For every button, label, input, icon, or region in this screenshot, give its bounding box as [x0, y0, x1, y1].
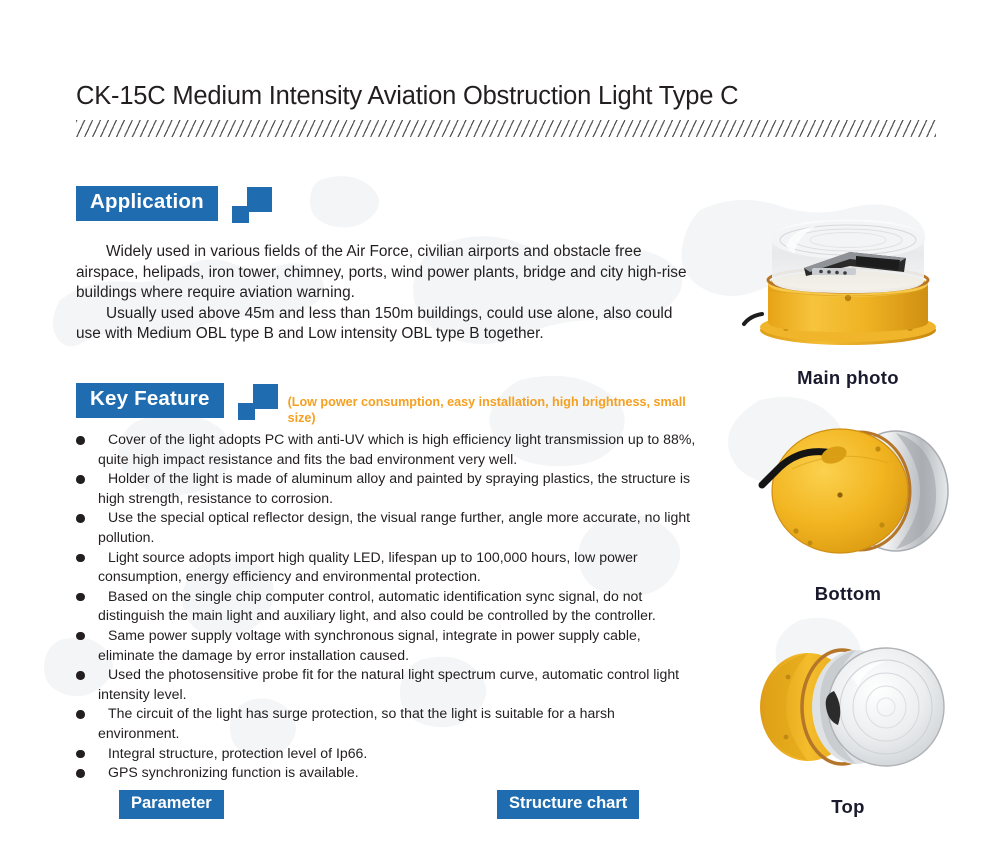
list-item: Integral structure, protection level of … [76, 744, 698, 764]
photo-item-top: Top [700, 605, 996, 818]
photo-item-bottom: Bottom [700, 389, 996, 605]
list-item: Use the special optical reflector design… [76, 508, 698, 547]
list-item: Based on the single chip computer contro… [76, 587, 698, 626]
parameter-badge-label: Parameter [119, 790, 224, 819]
list-item: Holder of the light is made of aluminum … [76, 469, 698, 508]
datasheet-page: CK-15C Medium Intensity Aviation Obstruc… [0, 0, 996, 856]
list-item: The circuit of the light has surge prote… [76, 704, 698, 743]
obstruction-light-top-view-icon [700, 633, 996, 783]
obstruction-light-bottom-view-icon [700, 413, 996, 568]
application-badge-label: Application [76, 186, 218, 221]
list-item: Light source adopts import high quality … [76, 548, 698, 587]
application-body: Widely used in various fields of the Air… [76, 242, 698, 345]
parameter-section-badge[interactable]: Parameter [119, 790, 224, 819]
list-item: Used the photosensitive probe fit for th… [76, 665, 698, 704]
list-item: Cover of the light adopts PC with anti-U… [76, 430, 698, 469]
photo-caption-bottom: Bottom [700, 583, 996, 605]
page-title: CK-15C Medium Intensity Aviation Obstruc… [76, 82, 936, 111]
section-header-key-feature: Key Feature (Low power consumption, easy… [76, 383, 708, 426]
structure-chart-badge-label: Structure chart [497, 790, 639, 819]
photo-caption-top: Top [700, 796, 996, 818]
stepped-square-motif-icon [238, 384, 278, 422]
stepped-square-motif-icon [232, 187, 272, 225]
obstruction-light-side-view-icon [700, 206, 996, 356]
title-block: CK-15C Medium Intensity Aviation Obstruc… [76, 82, 936, 137]
photo-item-main: Main photo [700, 206, 996, 389]
application-paragraph-1: Widely used in various fields of the Air… [76, 242, 698, 304]
key-feature-subtitle: (Low power consumption, easy installatio… [288, 395, 708, 426]
product-photo-column: Main photo [700, 206, 996, 818]
section-header-application: Application [76, 186, 272, 225]
hatched-divider [76, 120, 936, 137]
structure-chart-section-badge[interactable]: Structure chart [497, 790, 639, 819]
list-item: Same power supply voltage with synchrono… [76, 626, 698, 665]
key-feature-badge-label: Key Feature [76, 383, 224, 418]
photo-caption-main: Main photo [700, 367, 996, 389]
key-feature-list: Cover of the light adopts PC with anti-U… [76, 430, 698, 783]
application-paragraph-2: Usually used above 45m and less than 150… [76, 304, 698, 345]
list-item: GPS synchronizing function is available. [76, 763, 698, 783]
